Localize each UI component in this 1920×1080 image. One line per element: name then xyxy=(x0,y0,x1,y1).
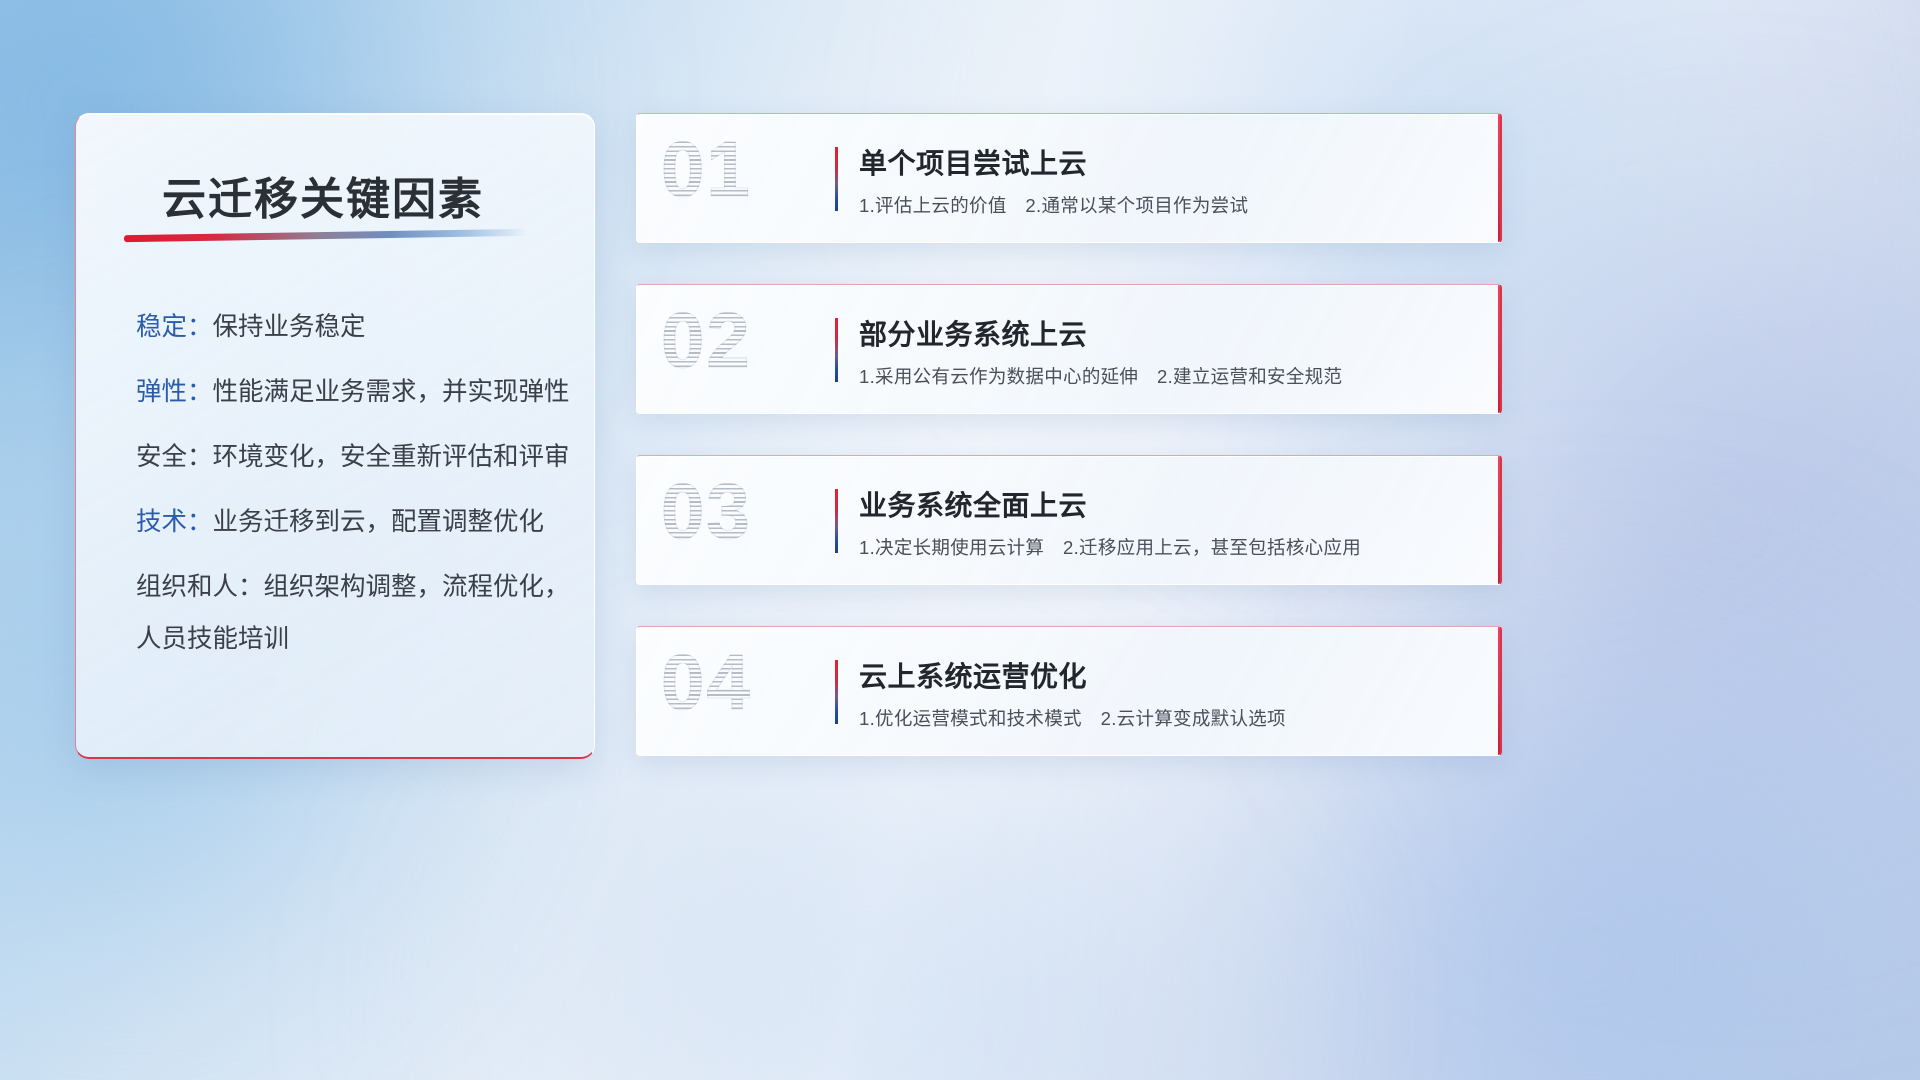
step-number-01: 01 xyxy=(661,124,752,215)
step-title: 业务系统全面上云 xyxy=(859,484,1087,524)
list-item-value: 性能满足业务需求，并实现弹性 xyxy=(213,378,570,406)
list-item-key: 稳定： xyxy=(136,313,213,341)
step-description: 1.评估上云的价值 2.通常以某个项目作为尝试 xyxy=(859,192,1248,218)
step-title: 云上系统运营优化 xyxy=(859,655,1087,695)
key-factors-panel: 云迁移关键因素 稳定：保持业务稳定 弹性：性能满足业务需求，并实现弹性 安全：环… xyxy=(75,113,595,759)
list-item-continuation: 人员技能培训 xyxy=(136,624,568,656)
list-item-key: 安全： xyxy=(136,443,213,471)
list-item-value: 环境变化，安全重新评估和评审 xyxy=(213,443,570,471)
step-card-04[interactable]: 04 云上系统运营优化 1.优化运营模式和技术模式 2.云计算变成默认选项 xyxy=(636,626,1502,756)
list-item-value: 业务迁移到云，配置调整优化 xyxy=(213,508,545,536)
step-description: 1.决定长期使用云计算 2.迁移应用上云，甚至包括核心应用 xyxy=(859,534,1361,560)
step-number-02: 02 xyxy=(661,295,752,386)
step-divider xyxy=(835,660,838,724)
list-item: 技术：业务迁移到云，配置调整优化 xyxy=(136,507,568,539)
step-card-02[interactable]: 02 部分业务系统上云 1.采用公有云作为数据中心的延伸 2.建立运营和安全规范 xyxy=(636,284,1502,414)
list-item-value: 保持业务稳定 xyxy=(213,313,366,341)
step-divider xyxy=(835,318,838,382)
list-item: 稳定：保持业务稳定 xyxy=(136,312,568,344)
list-item-value: 组织架构调整，流程优化， xyxy=(264,573,570,601)
key-factors-list: 稳定：保持业务稳定 弹性：性能满足业务需求，并实现弹性 安全：环境变化，安全重新… xyxy=(136,312,568,689)
step-number-04: 04 xyxy=(661,637,752,728)
step-card-01[interactable]: 01 单个项目尝试上云 1.评估上云的价值 2.通常以某个项目作为尝试 xyxy=(636,113,1502,243)
list-item: 安全：环境变化，安全重新评估和评审 xyxy=(136,442,568,474)
step-divider xyxy=(835,147,838,211)
step-title: 单个项目尝试上云 xyxy=(859,142,1087,182)
list-item-key: 技术： xyxy=(136,508,213,536)
migration-steps-list: 01 单个项目尝试上云 1.评估上云的价值 2.通常以某个项目作为尝试 02 部… xyxy=(636,113,1502,797)
step-divider xyxy=(835,489,838,553)
title-underline-rule xyxy=(124,229,528,242)
step-description: 1.采用公有云作为数据中心的延伸 2.建立运营和安全规范 xyxy=(859,363,1342,389)
list-item-key: 组织和人： xyxy=(136,573,264,601)
list-item: 弹性：性能满足业务需求，并实现弹性 xyxy=(136,377,568,409)
step-title: 部分业务系统上云 xyxy=(859,313,1087,353)
step-description: 1.优化运营模式和技术模式 2.云计算变成默认选项 xyxy=(859,705,1286,731)
list-item: 组织和人：组织架构调整，流程优化， xyxy=(136,572,568,604)
list-item-key: 弹性： xyxy=(136,378,213,406)
page-title: 云迁移关键因素 xyxy=(162,163,484,227)
step-card-03[interactable]: 03 业务系统全面上云 1.决定长期使用云计算 2.迁移应用上云，甚至包括核心应… xyxy=(636,455,1502,585)
step-number-03: 03 xyxy=(661,466,752,557)
